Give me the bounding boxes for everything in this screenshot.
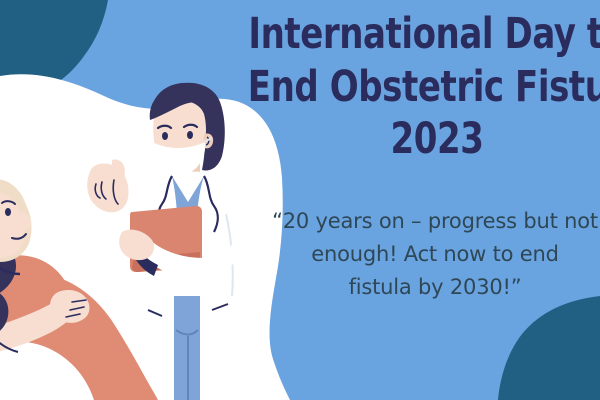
woman-eye [5, 208, 11, 216]
title-line-2: End Obstetric Fistula [248, 61, 600, 114]
subtitle-line-3: fistula by 2030!” [225, 271, 600, 304]
title-line-year: 2023 [248, 114, 600, 164]
subtitle-line-2: enough! Act now to end [225, 238, 600, 271]
poster-canvas: International Day to End Obstetric Fistu… [0, 0, 600, 400]
subtitle-line-1: “20 years on – progress but not [225, 205, 600, 238]
doctor-eye-left [162, 132, 168, 140]
title-line-1: International Day to [248, 8, 600, 61]
doctor-head [150, 83, 225, 175]
poster-subtitle-quote: “20 years on – progress but not enough! … [225, 205, 600, 304]
pointing-hand [87, 159, 128, 212]
poster-title: International Day to End Obstetric Fistu… [222, 8, 600, 164]
doctor-eye-right [187, 131, 193, 139]
